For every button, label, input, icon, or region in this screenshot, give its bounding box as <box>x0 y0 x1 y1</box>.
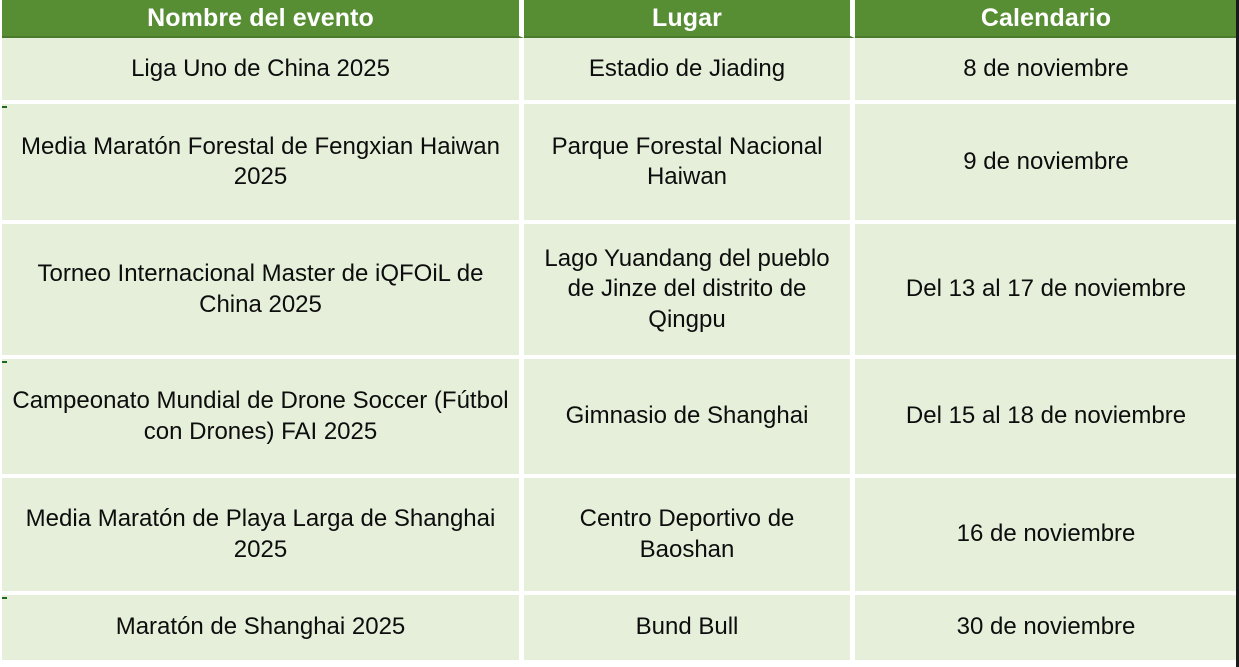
table-header: Nombre del evento Lugar Calendario <box>2 0 1237 38</box>
cell-schedule: 8 de noviembre <box>855 38 1237 104</box>
table-body: Liga Uno de China 2025 Estadio de Jiadin… <box>2 38 1237 663</box>
cell-schedule: 9 de noviembre <box>855 104 1237 224</box>
column-header-schedule[interactable]: Calendario <box>855 0 1237 38</box>
cell-place: Parque Forestal Nacional Haiwan <box>524 104 855 224</box>
table-row: Media Maratón Forestal de Fengxian Haiwa… <box>2 104 1237 224</box>
left-edge-margin <box>0 0 2 667</box>
table-row: Liga Uno de China 2025 Estadio de Jiadin… <box>2 38 1237 104</box>
table-row: Media Maratón de Playa Larga de Shanghai… <box>2 478 1237 595</box>
cell-event-name: Media Maratón de Playa Larga de Shanghai… <box>2 478 524 595</box>
cell-event-name: Campeonato Mundial de Drone Soccer (Fútb… <box>2 359 524 478</box>
cell-place: Gimnasio de Shanghai <box>524 359 855 478</box>
table-row: Campeonato Mundial de Drone Soccer (Fútb… <box>2 359 1237 478</box>
cell-event-name: Torneo Internacional Master de iQFOiL de… <box>2 224 524 359</box>
column-header-event-name[interactable]: Nombre del evento <box>2 0 524 38</box>
cell-place: Centro Deportivo de Baoshan <box>524 478 855 595</box>
cell-schedule: 30 de noviembre <box>855 595 1237 663</box>
cell-schedule: Del 15 al 18 de noviembre <box>855 359 1237 478</box>
cell-event-name: Media Maratón Forestal de Fengxian Haiwa… <box>2 104 524 224</box>
table-header-row: Nombre del evento Lugar Calendario <box>2 0 1237 38</box>
cell-place: Bund Bull <box>524 595 855 663</box>
cell-place: Lago Yuandang del pueblo de Jinze del di… <box>524 224 855 359</box>
cell-schedule: Del 13 al 17 de noviembre <box>855 224 1237 359</box>
cell-schedule: 16 de noviembre <box>855 478 1237 595</box>
events-table-container: Nombre del evento Lugar Calendario Liga … <box>0 0 1239 667</box>
cell-event-name: Maratón de Shanghai 2025 <box>2 595 524 663</box>
cell-place: Estadio de Jiading <box>524 38 855 104</box>
table-row: Maratón de Shanghai 2025 Bund Bull 30 de… <box>2 595 1237 663</box>
cell-event-name: Liga Uno de China 2025 <box>2 38 524 104</box>
column-header-place[interactable]: Lugar <box>524 0 855 38</box>
table-row: Torneo Internacional Master de iQFOiL de… <box>2 224 1237 359</box>
events-table: Nombre del evento Lugar Calendario Liga … <box>2 0 1237 663</box>
